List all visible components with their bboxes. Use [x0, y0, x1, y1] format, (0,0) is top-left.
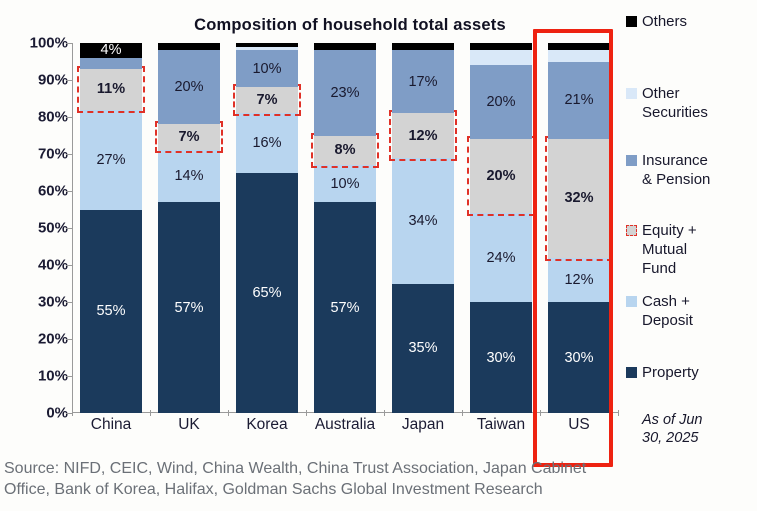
- y-axis-tick-label: 60%: [38, 183, 68, 200]
- legend-swatch-equity-icon: [626, 225, 637, 236]
- y-axis-labels: 0%10%20%30%40%50%60%70%80%90%100%: [0, 43, 68, 413]
- bar-segment-insurance[interactable]: 23%: [314, 50, 376, 135]
- bar-column-japan[interactable]: 35%34%12%17%: [392, 43, 454, 413]
- legend-label: Property: [642, 363, 699, 382]
- bar-segment-others[interactable]: [314, 43, 376, 50]
- bar-column-taiwan[interactable]: 30%24%20%20%: [470, 43, 532, 413]
- chart-root: Composition of household total assets 0%…: [0, 0, 757, 511]
- bar-segment-others[interactable]: [392, 43, 454, 50]
- bar-segment-insurance[interactable]: [80, 58, 142, 69]
- bar-segment-property[interactable]: 30%: [470, 302, 532, 413]
- legend-item-others[interactable]: Others: [626, 12, 687, 31]
- bar-segment-value: 65%: [252, 285, 281, 301]
- y-axis-tick-label: 0%: [46, 405, 68, 422]
- bar-segment-property[interactable]: 55%: [80, 210, 142, 414]
- bar-segment-others[interactable]: [236, 43, 298, 47]
- bar-segment-equity[interactable]: 7%: [236, 87, 298, 113]
- bar-segment-equity[interactable]: 8%: [314, 136, 376, 166]
- x-axis-label-japan: Japan: [384, 416, 462, 434]
- equity-highlight-outline: [467, 136, 535, 216]
- bar-segment-property[interactable]: 57%: [314, 202, 376, 413]
- bar-segment-insurance[interactable]: 20%: [470, 65, 532, 139]
- chart-title: Composition of household total assets: [140, 16, 560, 35]
- chart-legend: As of Jun 30, 2025 OthersOther Securitie…: [626, 8, 757, 428]
- y-axis-tick-label: 70%: [38, 146, 68, 163]
- bar-segment-cash[interactable]: 34%: [392, 158, 454, 284]
- bar-segment-value: 20%: [174, 79, 203, 95]
- legend-label: Equity + Mutual Fund: [642, 221, 697, 278]
- bar-segment-value: 20%: [486, 168, 515, 184]
- y-axis-tick-label: 30%: [38, 294, 68, 311]
- equity-highlight-outline: [311, 133, 379, 169]
- equity-highlight-outline: [155, 121, 223, 153]
- legend-swatch-property-icon: [626, 367, 637, 378]
- bar-column-korea[interactable]: 65%16%7%10%: [236, 43, 298, 413]
- y-axis-tick-label: 40%: [38, 257, 68, 274]
- legend-item-equity[interactable]: Equity + Mutual Fund: [626, 221, 697, 278]
- y-axis-tick-label: 80%: [38, 109, 68, 126]
- bar-segment-value: 24%: [486, 250, 515, 266]
- y-axis-tick-label: 10%: [38, 368, 68, 385]
- legend-swatch-others-icon: [626, 16, 637, 27]
- x-axis-label-china: China: [72, 416, 150, 434]
- x-axis-tick: [618, 410, 619, 416]
- bar-segment-cash[interactable]: 16%: [236, 113, 298, 172]
- equity-highlight-outline: [389, 110, 457, 160]
- legend-swatch-othersec-icon: [626, 88, 637, 99]
- bar-segment-value: 35%: [408, 340, 437, 356]
- bar-segment-others[interactable]: 4%: [80, 43, 142, 58]
- bar-column-australia[interactable]: 57%10%8%23%: [314, 43, 376, 413]
- bar-segment-cash[interactable]: 10%: [314, 165, 376, 202]
- bar-segment-value: 10%: [252, 61, 281, 77]
- bar-segment-value: 7%: [179, 129, 200, 145]
- bar-column-china[interactable]: 55%27%11%4%: [80, 43, 142, 413]
- bar-segment-property[interactable]: 35%: [392, 284, 454, 414]
- bar-segment-value: 17%: [408, 74, 437, 90]
- bar-segment-insurance[interactable]: 17%: [392, 50, 454, 113]
- legend-label: Cash + Deposit: [642, 292, 693, 330]
- legend-label: Insurance & Pension: [642, 151, 710, 189]
- bar-segment-equity[interactable]: 7%: [158, 124, 220, 150]
- bar-segment-insurance[interactable]: 20%: [158, 50, 220, 124]
- bar-segment-othersec[interactable]: [470, 50, 532, 65]
- bar-segment-value: 30%: [486, 350, 515, 366]
- bar-segment-value: 16%: [252, 135, 281, 151]
- bar-segment-value: 57%: [330, 300, 359, 316]
- bar-segment-othersec[interactable]: [236, 47, 298, 51]
- bar-segment-insurance[interactable]: 10%: [236, 50, 298, 87]
- bar-segment-value: 10%: [330, 176, 359, 192]
- bar-segment-value: 7%: [257, 92, 278, 108]
- legend-item-othersec[interactable]: Other Securities: [626, 84, 708, 122]
- bar-segment-cash[interactable]: 27%: [80, 110, 142, 210]
- bar-segment-property[interactable]: 57%: [158, 202, 220, 413]
- bar-segment-value: 55%: [96, 303, 125, 319]
- bar-column-uk[interactable]: 57%14%7%20%: [158, 43, 220, 413]
- bar-segment-equity[interactable]: 11%: [80, 69, 142, 110]
- bar-segment-value: 12%: [408, 128, 437, 144]
- bar-segment-value: 14%: [174, 168, 203, 184]
- bar-segment-cash[interactable]: 14%: [158, 150, 220, 202]
- legend-item-insurance[interactable]: Insurance & Pension: [626, 151, 710, 189]
- bar-segment-value: 11%: [97, 81, 125, 97]
- x-axis-label-taiwan: Taiwan: [462, 416, 540, 434]
- bar-segment-value: 8%: [335, 142, 356, 158]
- bar-segment-value: 34%: [408, 213, 437, 229]
- bar-segment-value: 23%: [330, 85, 359, 101]
- legend-label: Other Securities: [642, 84, 708, 122]
- legend-item-property[interactable]: Property: [626, 363, 699, 382]
- bar-segment-others[interactable]: [470, 43, 532, 50]
- us-highlight-box: [533, 29, 613, 467]
- source-footnote: Source: NIFD, CEIC, Wind, China Wealth, …: [4, 459, 754, 500]
- bar-segment-value: 4%: [101, 42, 122, 58]
- y-axis-tick-label: 100%: [30, 35, 68, 52]
- x-axis-label-australia: Australia: [306, 416, 384, 434]
- y-axis-tick-label: 20%: [38, 331, 68, 348]
- y-axis-tick-label: 90%: [38, 72, 68, 89]
- bar-segment-property[interactable]: 65%: [236, 173, 298, 414]
- as-of-note: As of Jun 30, 2025: [642, 411, 702, 447]
- legend-label: Others: [642, 12, 687, 31]
- bar-segment-cash[interactable]: 24%: [470, 213, 532, 302]
- bar-segment-equity[interactable]: 20%: [470, 139, 532, 213]
- x-axis-label-uk: UK: [150, 416, 228, 434]
- legend-swatch-cash-icon: [626, 296, 637, 307]
- bar-segment-others[interactable]: [158, 43, 220, 50]
- bar-segment-equity[interactable]: 12%: [392, 113, 454, 157]
- legend-item-cash[interactable]: Cash + Deposit: [626, 292, 693, 330]
- bar-segment-value: 57%: [174, 300, 203, 316]
- equity-highlight-outline: [77, 66, 145, 113]
- bar-segment-value: 27%: [96, 152, 125, 168]
- legend-swatch-insurance-icon: [626, 155, 637, 166]
- bar-segment-value: 20%: [486, 94, 515, 110]
- equity-highlight-outline: [233, 84, 301, 116]
- y-axis-tick-label: 50%: [38, 220, 68, 237]
- x-axis-label-korea: Korea: [228, 416, 306, 434]
